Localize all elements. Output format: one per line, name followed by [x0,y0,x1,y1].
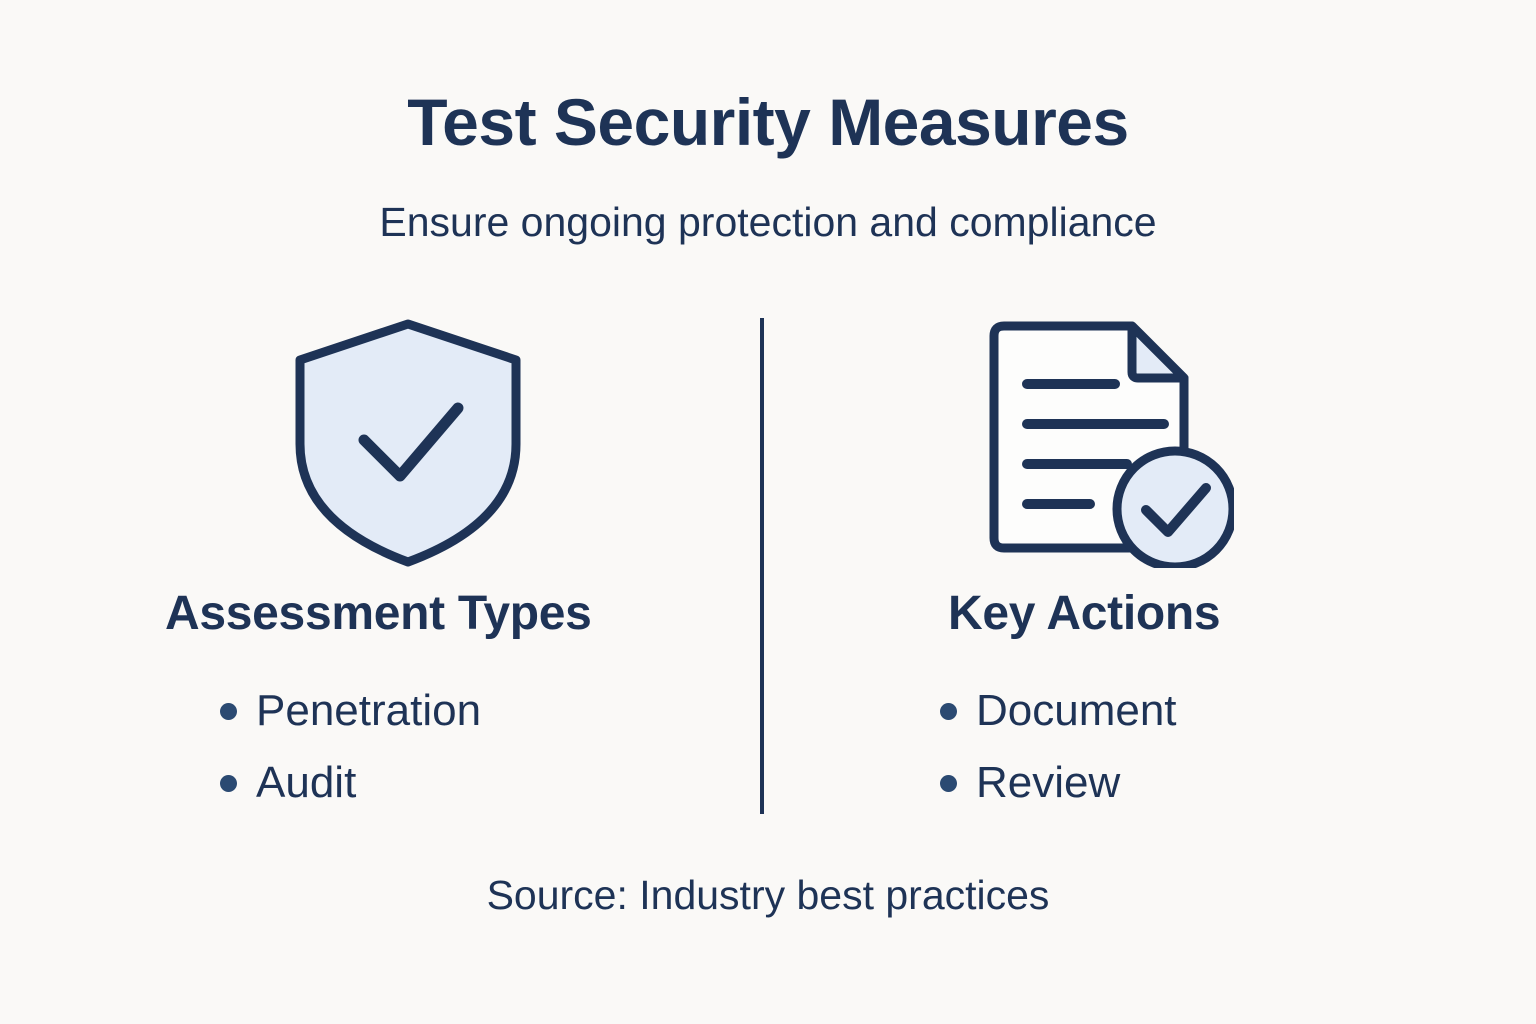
bullet-dot-icon [220,703,237,720]
bullet-list-key-actions: Document Review [940,675,1177,819]
infographic-canvas: Test Security Measures Ensure ongoing pr… [0,0,1536,1024]
list-item: Document [940,675,1177,747]
list-item-label: Audit [256,758,356,808]
bullet-list-assessment-types: Penetration Audit [220,675,481,819]
shield-check-icon-wrap [40,310,740,570]
column-assessment-types: Assessment Types Penetration Audit [40,300,740,820]
list-item: Review [940,747,1177,819]
source-note: Source: Industry best practices [0,872,1536,919]
list-item: Penetration [220,675,481,747]
list-item-label: Review [976,758,1120,808]
page-title: Test Security Measures [0,88,1536,157]
shield-check-icon [292,316,524,568]
document-check-icon [972,316,1234,568]
column-key-actions: Key Actions Document Review [800,300,1490,820]
page-subtitle: Ensure ongoing protection and compliance [0,198,1536,247]
list-item-label: Penetration [256,686,481,736]
bullet-dot-icon [940,703,957,720]
bullet-dot-icon [940,775,957,792]
column-heading-assessment-types: Assessment Types [165,588,592,641]
column-heading-key-actions: Key Actions [948,588,1220,641]
bullet-dot-icon [220,775,237,792]
list-item-label: Document [976,686,1177,736]
column-divider [760,318,764,814]
document-check-icon-wrap [800,310,1490,570]
list-item: Audit [220,747,481,819]
